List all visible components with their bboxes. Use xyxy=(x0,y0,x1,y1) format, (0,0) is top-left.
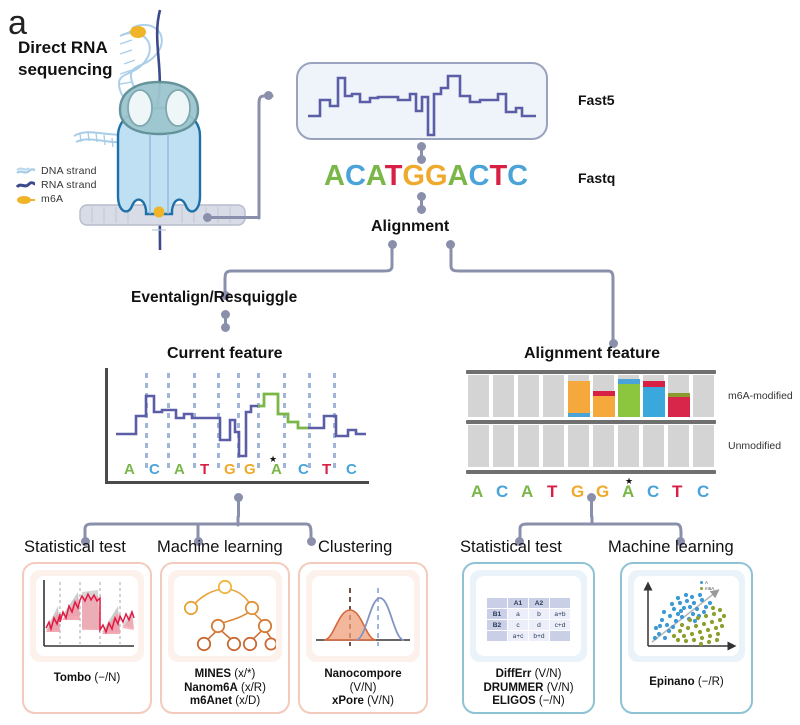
cell-r2c1: a+c xyxy=(508,631,529,642)
signal-deviation-plot xyxy=(36,576,138,656)
tool-tag-epinano: (−/R) xyxy=(698,676,724,688)
fast5-label: Fast5 xyxy=(578,92,615,108)
tool-name-epinano: Epinano xyxy=(649,676,694,688)
af-base-9: C xyxy=(697,482,709,502)
tool-tag-eligos: (−/N) xyxy=(539,695,565,707)
cf-base-2: A xyxy=(174,461,185,478)
category-title-clustering: Clustering xyxy=(318,538,392,557)
cell-r0c3: a+b xyxy=(550,609,571,620)
table-row: B2 c d c+d xyxy=(487,620,571,631)
scatter-legend-item-m6a: m6A xyxy=(700,586,714,592)
legend-item-rna-strand: RNA strand xyxy=(16,179,136,191)
fastq-base-5: G xyxy=(425,160,448,192)
table-row: a+c b+d xyxy=(487,631,571,642)
scatter-legend-label-a: A xyxy=(705,580,708,585)
scatter-svg xyxy=(634,576,739,656)
tool-name-eligos: ELIGOS xyxy=(492,695,535,707)
af-base-4: G xyxy=(571,482,584,502)
cell-r2c3 xyxy=(550,631,571,642)
tool-list-tombo: Tombo (−/N) xyxy=(24,672,150,686)
af-bar-4 xyxy=(568,381,590,417)
legend-label-rna: RNA strand xyxy=(41,179,97,191)
cf-base-5: G xyxy=(244,461,256,478)
cell-h2: A2 xyxy=(529,598,550,609)
tool-name-m6anet: m6Anet xyxy=(190,695,232,707)
af-bar-8 xyxy=(668,393,690,417)
clustering-plot-wrapper xyxy=(306,570,420,662)
legend-label-m6a: m6A xyxy=(41,193,63,205)
scatter-legend-label-m6a: m6A xyxy=(705,586,714,591)
cf-base-8: T xyxy=(322,461,331,478)
cell-r2c2: b+d xyxy=(529,631,550,642)
tool-tag-m6anet: (x/D) xyxy=(235,695,260,707)
cell-h0 xyxy=(487,598,508,609)
fastq-base-1: C xyxy=(345,160,366,192)
table-row-header: A1 A2 xyxy=(487,598,571,609)
category-title-stat-test-alignment: Statistical test xyxy=(460,538,562,557)
decision-tree-wrapper xyxy=(168,570,282,662)
two-distribution-plot xyxy=(312,576,414,656)
current-feature-sequence: A C A T G G A C T C xyxy=(108,461,366,481)
current-feature-plot: ★ A C A T G G A C T C xyxy=(105,368,373,490)
distributions-svg xyxy=(312,576,414,656)
contingency-table: A1 A2 B1 a b a+b B2 c d c+d xyxy=(486,597,571,642)
fastq-sequence: ACATGGACTC xyxy=(324,160,524,193)
fastq-label: Fastq xyxy=(578,170,615,186)
fast5-signal-trace xyxy=(298,64,546,138)
af-row-label-modified: m6A-modified xyxy=(728,390,793,402)
af-base-3: T xyxy=(547,482,557,502)
tool-name-drummer: DRUMMER xyxy=(483,682,543,694)
tool-tag-mines: (x/*) xyxy=(234,668,255,680)
alignment-feature-plot: m6A-modified Unmodified ★ A C A T G G A … xyxy=(466,370,796,490)
scatter-legend: A m6A xyxy=(700,580,714,592)
method-box-tombo[interactable]: Tombo (−/N) xyxy=(22,562,152,714)
tool-name-tombo: Tombo xyxy=(54,672,91,684)
af-base-0: A xyxy=(471,482,483,502)
cell-h1: A1 xyxy=(508,598,529,609)
decision-tree-svg xyxy=(174,576,276,656)
strand-legend: DNA strand RNA strand m6A xyxy=(16,165,136,205)
scatter-legend-dot-a xyxy=(700,581,703,584)
tool-list-epinano: Epinano (−/R) xyxy=(622,676,751,690)
cell-h3 xyxy=(550,598,571,609)
connector-elbow xyxy=(255,92,275,222)
af-base-7: C xyxy=(647,482,659,502)
alignment-feature-title: Alignment feature xyxy=(524,345,660,363)
figure-panel-a: a Direct RNA sequencing xyxy=(0,0,800,725)
af-base-1: C xyxy=(496,482,508,502)
tool-tag-nanocompore: (V/N) xyxy=(350,682,377,694)
cell-r2c0 xyxy=(487,631,508,642)
category-title-ml-current: Machine learning xyxy=(157,538,283,557)
scatter-wrapper: A m6A xyxy=(628,570,745,662)
af-base-8: T xyxy=(672,482,682,502)
tombo-signal-svg xyxy=(36,576,138,656)
alignment-node-label: Alignment xyxy=(371,218,449,236)
method-box-stat-alignment[interactable]: A1 A2 B1 a b a+b B2 c d c+d xyxy=(462,562,595,714)
tool-tag-drummer: (V/N) xyxy=(547,682,574,694)
tool-tag-nanom6a: (x/R) xyxy=(241,682,266,694)
cf-base-3: T xyxy=(200,461,209,478)
legend-item-dna-strand: DNA strand xyxy=(16,165,136,177)
cell-r1c3: c+d xyxy=(550,620,571,631)
current-feature-title: Current feature xyxy=(167,345,283,363)
fastq-base-0: A xyxy=(324,160,345,192)
cf-base-4: G xyxy=(224,461,236,478)
tool-list-ml-current: MINES (x/*) Nanom6A (x/R) m6Anet (x/D) xyxy=(162,668,288,709)
cell-r1c1: c xyxy=(508,620,529,631)
legend-item-m6a: m6A xyxy=(16,193,136,205)
cell-r0c0: B1 xyxy=(487,609,508,620)
scatter-legend-dot-m6a xyxy=(700,587,703,590)
tool-name-differr: DiffErr xyxy=(496,668,532,680)
scatter-plot: A m6A xyxy=(634,576,739,656)
fastq-base-2: A xyxy=(366,160,385,192)
cf-base-7: C xyxy=(298,461,309,478)
af-bar-7 xyxy=(643,381,665,417)
contingency-table-plot: A1 A2 B1 a b a+b B2 c d c+d xyxy=(476,576,581,656)
eventalign-label: Eventalign/Resquiggle xyxy=(131,289,297,307)
cf-base-6: A xyxy=(271,461,282,478)
cell-r1c2: d xyxy=(529,620,550,631)
category-title-ml-alignment: Machine learning xyxy=(608,538,734,557)
tool-name-mines: MINES xyxy=(195,668,231,680)
fastq-base-3: T xyxy=(385,160,403,192)
af-row-label-unmodified: Unmodified xyxy=(728,440,781,452)
tool-name-nanom6a: Nanom6A xyxy=(184,682,238,694)
legend-label-dna: DNA strand xyxy=(41,165,97,177)
method-box-epinano[interactable]: A m6A Epinano (−/R) xyxy=(620,562,753,714)
rna-strand-icon xyxy=(16,181,36,190)
decision-tree-plot xyxy=(174,576,276,656)
tool-tag-xpore: (V/N) xyxy=(367,695,394,707)
af-base-6: A xyxy=(622,482,634,502)
fastq-base-4: G xyxy=(402,160,425,192)
cell-r0c1: a xyxy=(508,609,529,620)
method-box-ml-current[interactable]: MINES (x/*) Nanom6A (x/R) m6Anet (x/D) xyxy=(160,562,290,714)
af-bar-5 xyxy=(593,391,615,417)
method-box-clustering[interactable]: Nanocompore (V/N) xPore (V/N) xyxy=(298,562,428,714)
cf-base-1: C xyxy=(149,461,160,478)
af-bar-6 xyxy=(618,379,640,417)
tool-name-nanocompore: Nanocompore xyxy=(324,668,401,680)
fast5-signal-box xyxy=(296,62,548,140)
cell-r0c2: b xyxy=(529,609,550,620)
af-base-2: A xyxy=(521,482,533,502)
tool-name-xpore: xPore xyxy=(332,695,364,707)
cell-r1c0: B2 xyxy=(487,620,508,631)
tool-list-clustering: Nanocompore (V/N) xPore (V/N) xyxy=(300,668,426,709)
tombo-plot-wrapper xyxy=(30,570,144,662)
connector-elbow-right xyxy=(449,244,619,344)
fastq-base-6: A xyxy=(448,160,469,192)
cf-base-9: C xyxy=(346,461,357,478)
cf-base-0: A xyxy=(124,461,135,478)
tool-tag-tombo: (−/N) xyxy=(94,672,120,684)
fastq-base-7: C xyxy=(469,160,490,192)
af-base-5: G xyxy=(596,482,609,502)
contingency-wrapper: A1 A2 B1 a b a+b B2 c d c+d xyxy=(470,570,587,662)
dna-strand-icon xyxy=(16,167,36,176)
category-title-stat-test-current: Statistical test xyxy=(24,538,126,557)
tool-list-stat-alignment: DiffErr (V/N) DRUMMER (V/N) ELIGOS (−/N) xyxy=(464,668,593,709)
fastq-base-8: T xyxy=(489,160,507,192)
table-row: B1 a b a+b xyxy=(487,609,571,620)
m6a-icon xyxy=(16,195,36,204)
tool-tag-differr: (V/N) xyxy=(535,668,562,680)
nanopore-illustration xyxy=(60,0,260,250)
fastq-base-9: C xyxy=(507,160,528,192)
